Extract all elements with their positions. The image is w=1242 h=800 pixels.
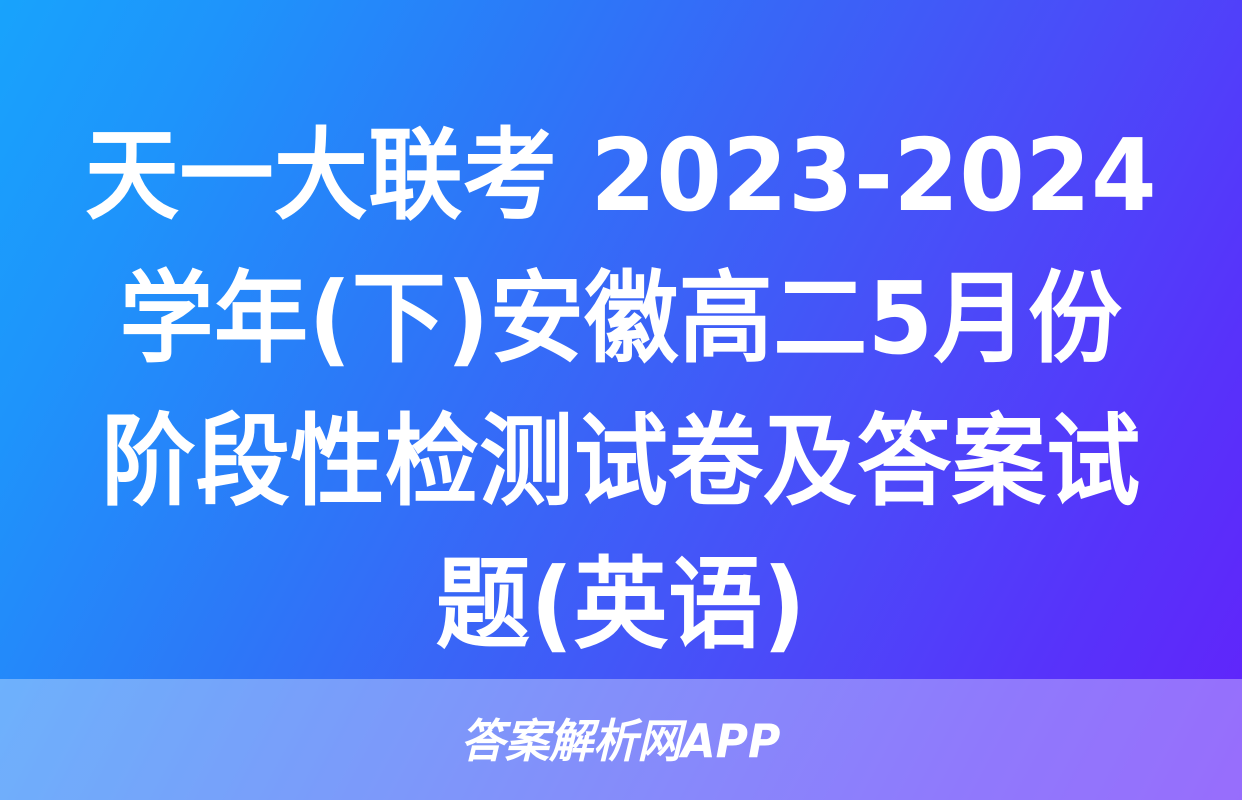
title-block: 天一大联考 2023-2024 学年(下)安徽高二5月份 阶段性检测试卷及答案试… xyxy=(0,104,1242,680)
title-line-4: 题(英语) xyxy=(65,533,1176,676)
title-line-2: 学年(下)安徽高二5月份 xyxy=(65,247,1176,390)
title-line-3: 阶段性检测试卷及答案试 xyxy=(65,390,1176,533)
app-watermark-label: 答案解析网APP xyxy=(461,716,781,766)
title-line-1: 天一大联考 2023-2024 xyxy=(65,104,1176,247)
footer-watermark-band: 答案解析网APP xyxy=(0,679,1242,800)
poster-canvas: 天一大联考 2023-2024 学年(下)安徽高二5月份 阶段性检测试卷及答案试… xyxy=(0,0,1242,800)
